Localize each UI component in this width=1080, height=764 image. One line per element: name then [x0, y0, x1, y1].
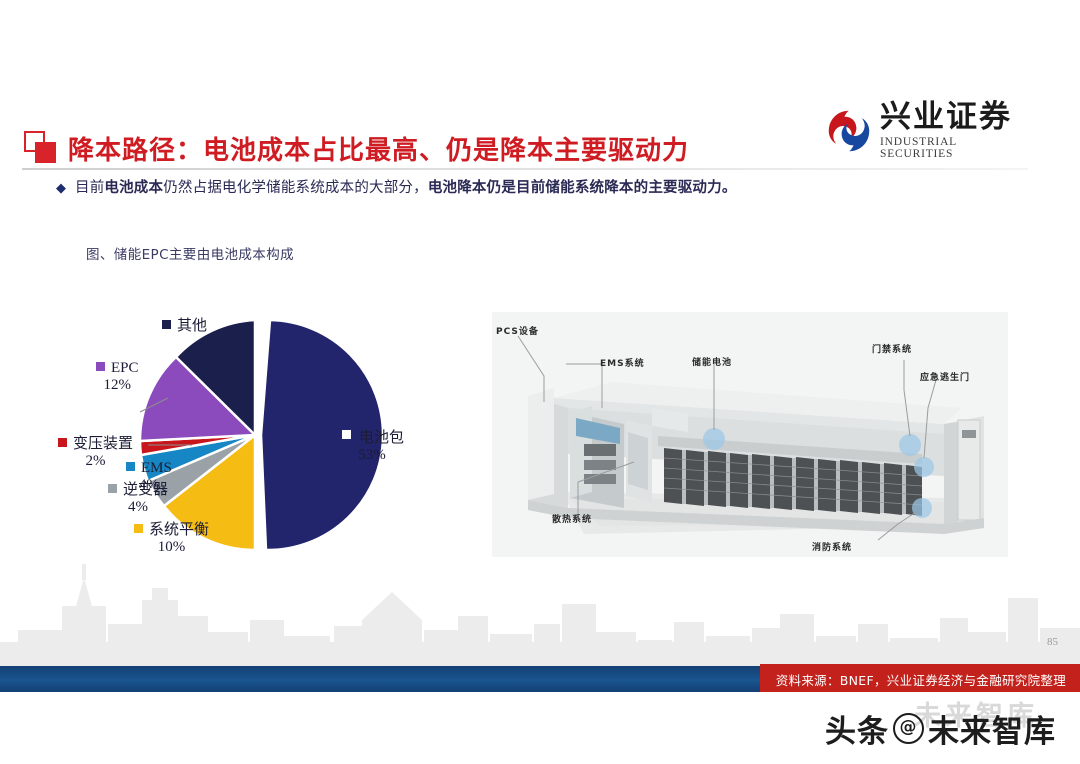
watermark-brand: 头条 @ 未来智库 [825, 706, 1056, 751]
pie-label-battery-pack-pct: 53% [340, 447, 404, 464]
source-note: 资料来源：BNEF，兴业证券经济与金融研究院整理 [760, 664, 1080, 694]
bullet-part2: 仍然占据电化学储能系统成本的大部分， [163, 180, 428, 196]
watermark-name: 未来智库 [928, 706, 1056, 751]
bullet-bold1: 电池成本 [104, 180, 163, 196]
pie-chart: 其他 EPC 12% 变压装置 2% EMS 4% 逆变器 4% 系统平衡 10… [30, 300, 480, 590]
pie-label-inverter-name: 逆变器 [123, 482, 168, 498]
at-symbol-icon: @ [893, 713, 924, 744]
pie-label-others: 其他 [162, 318, 207, 335]
photo-label-escape: 应急逃生门 [920, 370, 970, 383]
page-title: 降本路径：电池成本占比最高、仍是降本主要驱动力 [68, 130, 689, 167]
bullet-part1: 目前 [75, 180, 104, 196]
swatch-inverter [108, 484, 117, 493]
energy-storage-container-photo: PCS设备 EMS系统 储能电池 门禁系统 应急逃生门 散热系统 消防系统 [492, 312, 1008, 557]
diamond-bullet-icon: ◆ [56, 182, 66, 195]
pie-label-epc-name: EPC [111, 360, 139, 376]
swatch-transformer [58, 438, 67, 447]
pie-label-epc-pct: 12% [96, 377, 139, 394]
title-square-icon [24, 131, 58, 165]
key-point-bullet: ◆ 目前电池成本仍然占据电化学储能系统成本的大部分，电池降本仍是目前储能系统降本… [56, 176, 737, 197]
key-point-text: 目前电池成本仍然占据电化学储能系统成本的大部分，电池降本仍是目前储能系统降本的主… [75, 176, 737, 197]
swatch-others [162, 320, 171, 329]
photo-label-pcs: PCS设备 [496, 324, 539, 337]
bullet-bold2: 电池降本仍是目前储能系统降本的主要驱动力。 [428, 180, 737, 196]
pie-label-battery-pack-name: 电池包 [359, 430, 404, 446]
photo-label-access: 门禁系统 [872, 342, 912, 355]
photo-label-cooling: 散热系统 [552, 512, 592, 525]
logo-english-name: INDUSTRIAL SECURITIES [880, 137, 1026, 160]
bottom-watermark-area: 未来智库 头条 @ 未来智库 [0, 692, 1080, 764]
slide-canvas: 兴业证券 INDUSTRIAL SECURITIES 降本路径：电池成本占比最高… [0, 0, 1080, 764]
pie-label-ems-name: EMS [141, 460, 172, 476]
photo-label-fire: 消防系统 [812, 540, 852, 553]
swatch-battery-pack [340, 428, 353, 441]
city-skyline-decoration [0, 558, 1080, 668]
logo-text-block: 兴业证券 INDUSTRIAL SECURITIES [880, 102, 1026, 160]
swirl-logo-icon [826, 108, 872, 154]
pie-label-others-name: 其他 [177, 318, 207, 334]
chart-caption: 图、储能EPC主要由电池成本构成 [86, 243, 294, 263]
photo-label-battery: 储能电池 [692, 355, 732, 368]
pie-label-system-balance-name: 系统平衡 [149, 522, 209, 538]
square-solid-shape [35, 142, 56, 163]
company-logo: 兴业证券 INDUSTRIAL SECURITIES [826, 100, 1026, 162]
pie-label-system-balance-pct: 10% [134, 539, 209, 556]
pie-label-system-balance: 系统平衡 10% [134, 522, 209, 557]
swatch-epc [96, 362, 105, 371]
pie-label-transformer-name: 变压装置 [73, 436, 133, 452]
watermark-prefix: 头条 [825, 706, 889, 751]
page-number: 85 [1047, 636, 1058, 648]
pie-label-battery-pack: 电池包 53% [340, 428, 404, 465]
photo-label-ems: EMS系统 [600, 356, 645, 369]
pie-label-epc: EPC 12% [96, 360, 139, 395]
title-divider [22, 168, 1028, 170]
logo-chinese-name: 兴业证券 [880, 102, 1026, 133]
pie-label-inverter: 逆变器 4% [108, 482, 168, 517]
swatch-system-balance [134, 524, 143, 533]
pie-label-inverter-pct: 4% [108, 499, 168, 516]
pie-label-transformer-pct: 2% [58, 453, 133, 470]
pie-label-transformer: 变压装置 2% [58, 436, 133, 471]
swatch-ems [126, 462, 135, 471]
